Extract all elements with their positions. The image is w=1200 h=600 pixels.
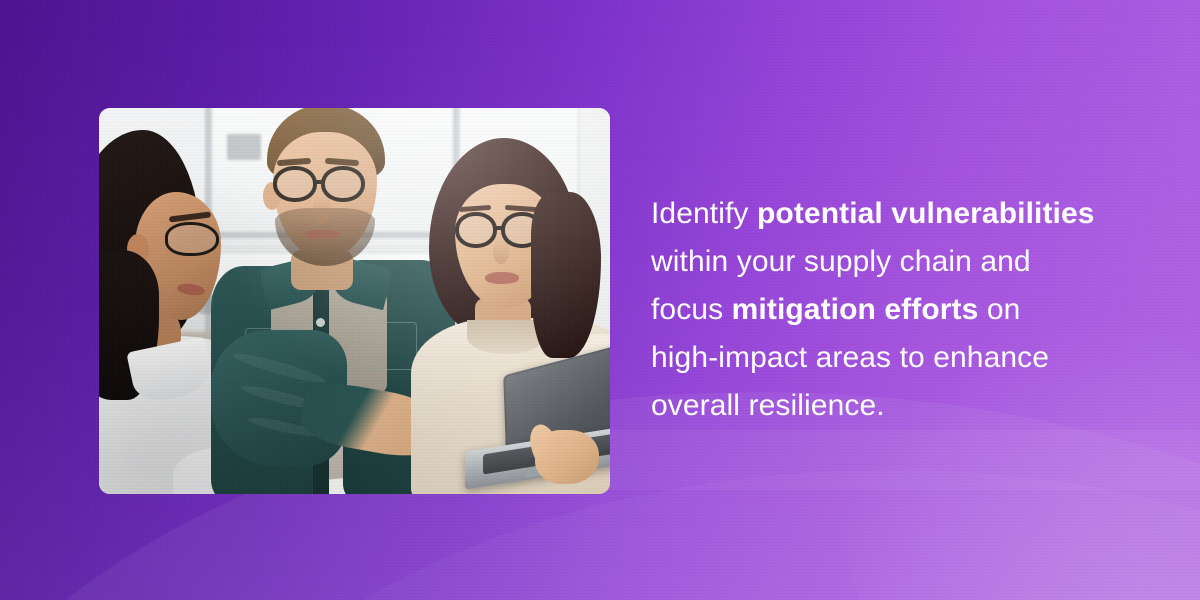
office-photo: [99, 108, 610, 494]
copy-line-1-plain: Identify: [651, 197, 757, 230]
eyeglasses: [273, 166, 317, 202]
copy-line-2-plain: within your supply chain and: [651, 245, 1031, 278]
eyeglass-bridge: [315, 180, 325, 184]
copy-line-5: overall resilience.: [651, 382, 1151, 430]
nose: [493, 240, 509, 264]
nose: [313, 196, 331, 224]
promo-banner: Identify potential vulnerabilities withi…: [0, 0, 1200, 600]
copy-line-3-plain-before: focus: [651, 293, 732, 326]
laptop: [473, 354, 610, 494]
shirt-button: [316, 318, 325, 327]
eyeglasses: [455, 212, 497, 248]
copy-line-2: within your supply chain and: [651, 238, 1151, 286]
copy-line-5-plain: overall resilience.: [651, 389, 885, 422]
copy-line-3: focus mitigation efforts on: [651, 286, 1151, 334]
eyeglasses: [165, 222, 219, 256]
lips: [305, 230, 339, 239]
eyeglass-bridge: [495, 226, 505, 230]
copy-line-1: Identify potential vulnerabilities: [651, 190, 1151, 238]
copy-line-4: high-impact areas to enhance: [651, 334, 1151, 382]
copy-line-3-emphasis: mitigation efforts: [732, 293, 979, 326]
copy-line-3-plain-after: on: [978, 293, 1020, 326]
shirt-pocket: [359, 322, 417, 370]
copy-line-4-plain: high-impact areas to enhance: [651, 341, 1049, 374]
photo-card: [99, 108, 610, 494]
eyeglasses: [321, 166, 365, 202]
headline-copy: Identify potential vulnerabilities withi…: [651, 190, 1151, 430]
lips: [485, 272, 519, 284]
copy-line-1-emphasis: potential vulnerabilities: [757, 197, 1095, 230]
background-soft-band: [600, 430, 1200, 490]
